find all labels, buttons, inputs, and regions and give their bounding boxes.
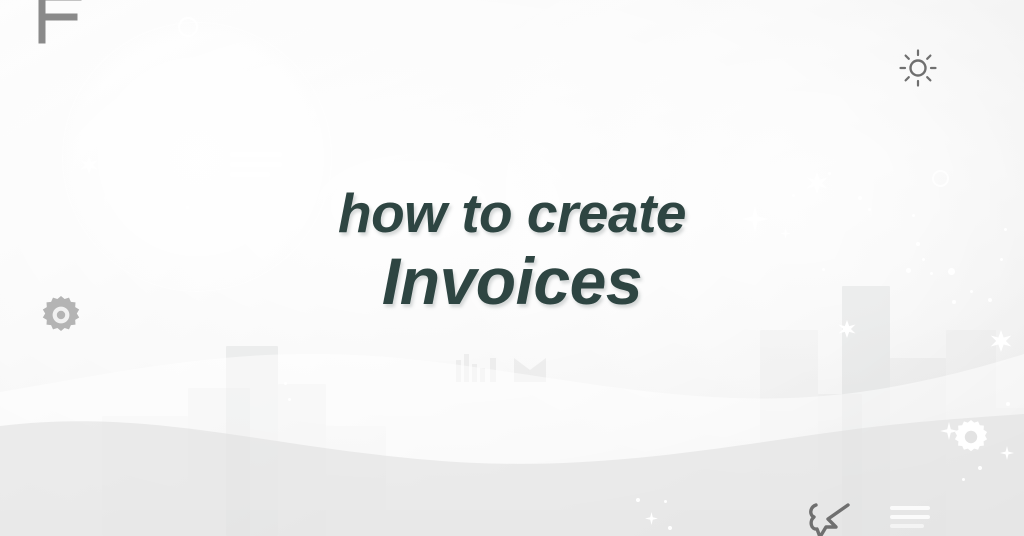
sparkle-dot [636, 498, 640, 502]
sparkle-dot [858, 196, 862, 200]
sparkle [806, 172, 828, 194]
sparkle-dot [948, 268, 955, 275]
sparkle-dot [668, 526, 672, 530]
sparkle-dot [288, 398, 291, 401]
sparkle-dot [664, 500, 667, 503]
sparkle-dot [916, 242, 920, 246]
sparkle-dot [792, 194, 795, 197]
sparkle [742, 206, 768, 232]
building-shape [890, 358, 946, 536]
background-wash-left [0, 0, 1024, 510]
gear-sparkle-icon [952, 418, 990, 456]
logo-f-icon [34, 0, 84, 46]
ring-icon [178, 17, 198, 37]
building-shape [996, 408, 1024, 536]
sparkle-dot [912, 214, 915, 217]
building-shape [188, 388, 250, 536]
sparkle-dot [988, 298, 992, 302]
cursor-icon [806, 497, 858, 536]
sparkle-dot [1004, 228, 1007, 231]
sparkle-dot [930, 272, 933, 275]
glow-circle-decoration [62, 22, 332, 292]
sparkle [990, 330, 1012, 352]
building-shape [278, 384, 326, 536]
sparkle-dot [952, 300, 956, 304]
watermark-decoration [452, 352, 572, 386]
list-lines-icon [890, 506, 930, 533]
sparkle-dot [906, 268, 911, 273]
title-card-canvas: how to create Invoices [0, 0, 1024, 536]
wave-decoration [0, 296, 1024, 536]
building-shape [326, 426, 386, 536]
building-shape [102, 416, 188, 536]
title-line-1: how to create [0, 186, 1024, 241]
sparkle-dot [962, 478, 965, 481]
sparkle [780, 228, 791, 239]
sun-icon [898, 48, 938, 88]
sparkle-dot [868, 208, 871, 211]
sparkle [838, 320, 856, 338]
sparkle-dot [970, 290, 973, 293]
sparkle [80, 156, 98, 174]
sparkle-dot [828, 172, 831, 175]
sparkle-dot [922, 258, 925, 261]
gear-icon [40, 294, 82, 336]
ring-icon-right [932, 170, 949, 187]
sparkle-dot [186, 206, 189, 209]
sparkle-dot [1000, 258, 1003, 261]
title-line-2: Invoices [0, 247, 1024, 317]
sparkle-dot [822, 268, 825, 271]
title-block: how to create Invoices [0, 186, 1024, 317]
skyline-silhouette-group [0, 0, 1024, 536]
sparkle [645, 512, 658, 525]
sparkle-dot [1006, 402, 1010, 406]
sparkle [1000, 446, 1014, 460]
document-lines-icon [230, 152, 282, 182]
building-shape [226, 346, 278, 536]
sparkle-dot [284, 382, 287, 385]
sparkle-dot [978, 466, 982, 470]
